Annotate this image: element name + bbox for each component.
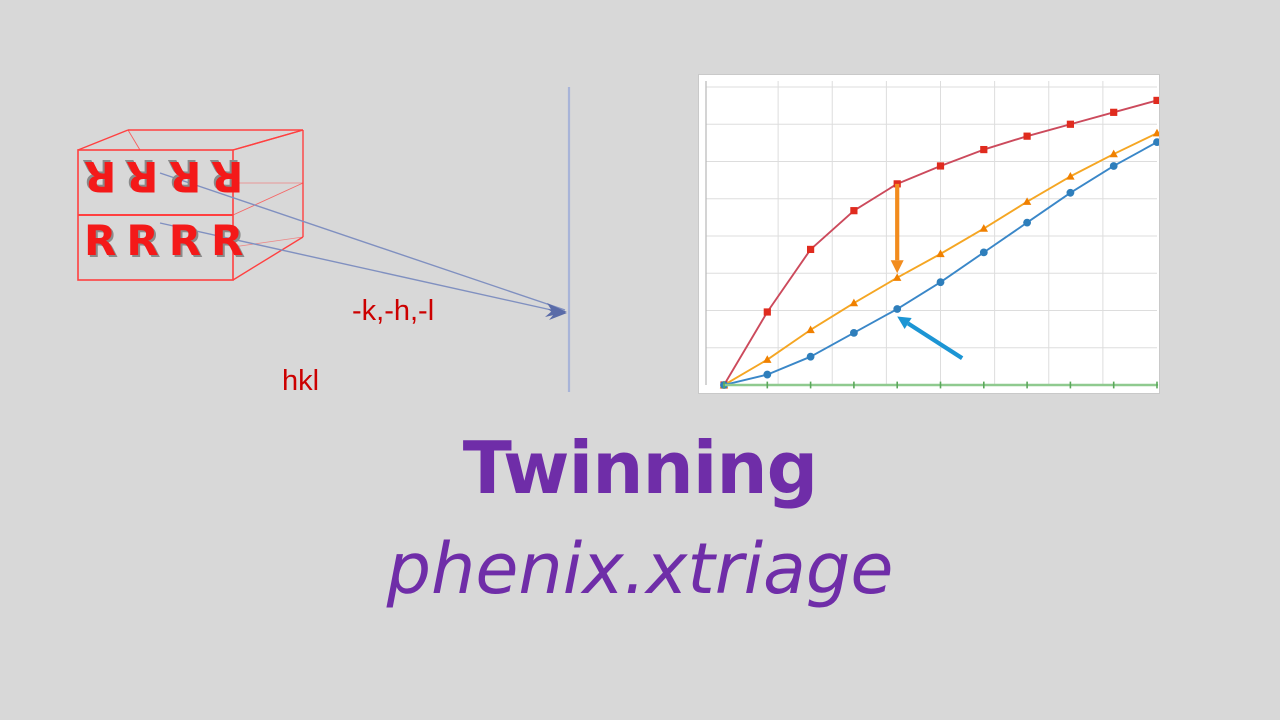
orange-down-arrow-head [891,260,904,273]
glyph-r: R [84,220,116,262]
page-subtitle: phenix.xtriage [0,534,1280,604]
chart-svg [699,75,1159,393]
data-point-circle [980,248,988,256]
data-point-circle [807,353,815,361]
hkl-index-label: hkl [282,365,319,398]
data-point-square [764,308,771,315]
glyph-r: R [126,220,158,262]
data-point-square [1024,133,1031,140]
glyph-r-flipped: R [126,155,158,197]
twin-domain-bottom-glyphs: R R R R [84,220,243,262]
data-point-circle [937,278,945,286]
data-point-triangle [980,224,988,232]
chart-annotations [891,184,962,358]
data-point-triangle [806,325,814,333]
data-point-circle [1067,189,1075,197]
data-point-square [1110,109,1117,116]
data-point-triangle [850,299,858,307]
glyph-r-flipped: R [169,155,201,197]
glyph-r: R [169,220,201,262]
intensity-statistics-chart [698,74,1160,394]
twin-domain-top-glyphs: R R R R [84,155,243,197]
data-point-square [1067,121,1074,128]
glyph-r-flipped: R [211,155,243,197]
data-point-circle [850,329,858,337]
data-point-circle [1110,162,1118,170]
twin-operator-label: -k,-h,-l [352,295,434,328]
data-point-triangle [763,355,771,363]
series-baseline [724,382,1157,389]
data-point-circle [893,305,901,313]
glyph-r-flipped: R [84,155,116,197]
page-title: Twinning [0,432,1280,504]
blue-left-arrow-shaft [908,323,962,358]
lattice-diagram: R R R R R R R R -k,-h,-l hkl [60,125,580,415]
series-untwinned [720,138,1159,389]
detector-line [560,80,580,400]
data-point-square [807,246,814,253]
data-point-circle [1023,219,1031,227]
slide-canvas: R R R R R R R R -k,-h,-l hkl Twinning ph… [0,0,1280,720]
data-point-square [850,207,857,214]
data-point-triangle [1153,129,1159,137]
glyph-r: R [211,220,243,262]
data-point-triangle [936,249,944,257]
data-point-square [980,146,987,153]
data-point-circle [763,371,771,379]
data-point-square [937,162,944,169]
data-point-square [1153,97,1159,104]
